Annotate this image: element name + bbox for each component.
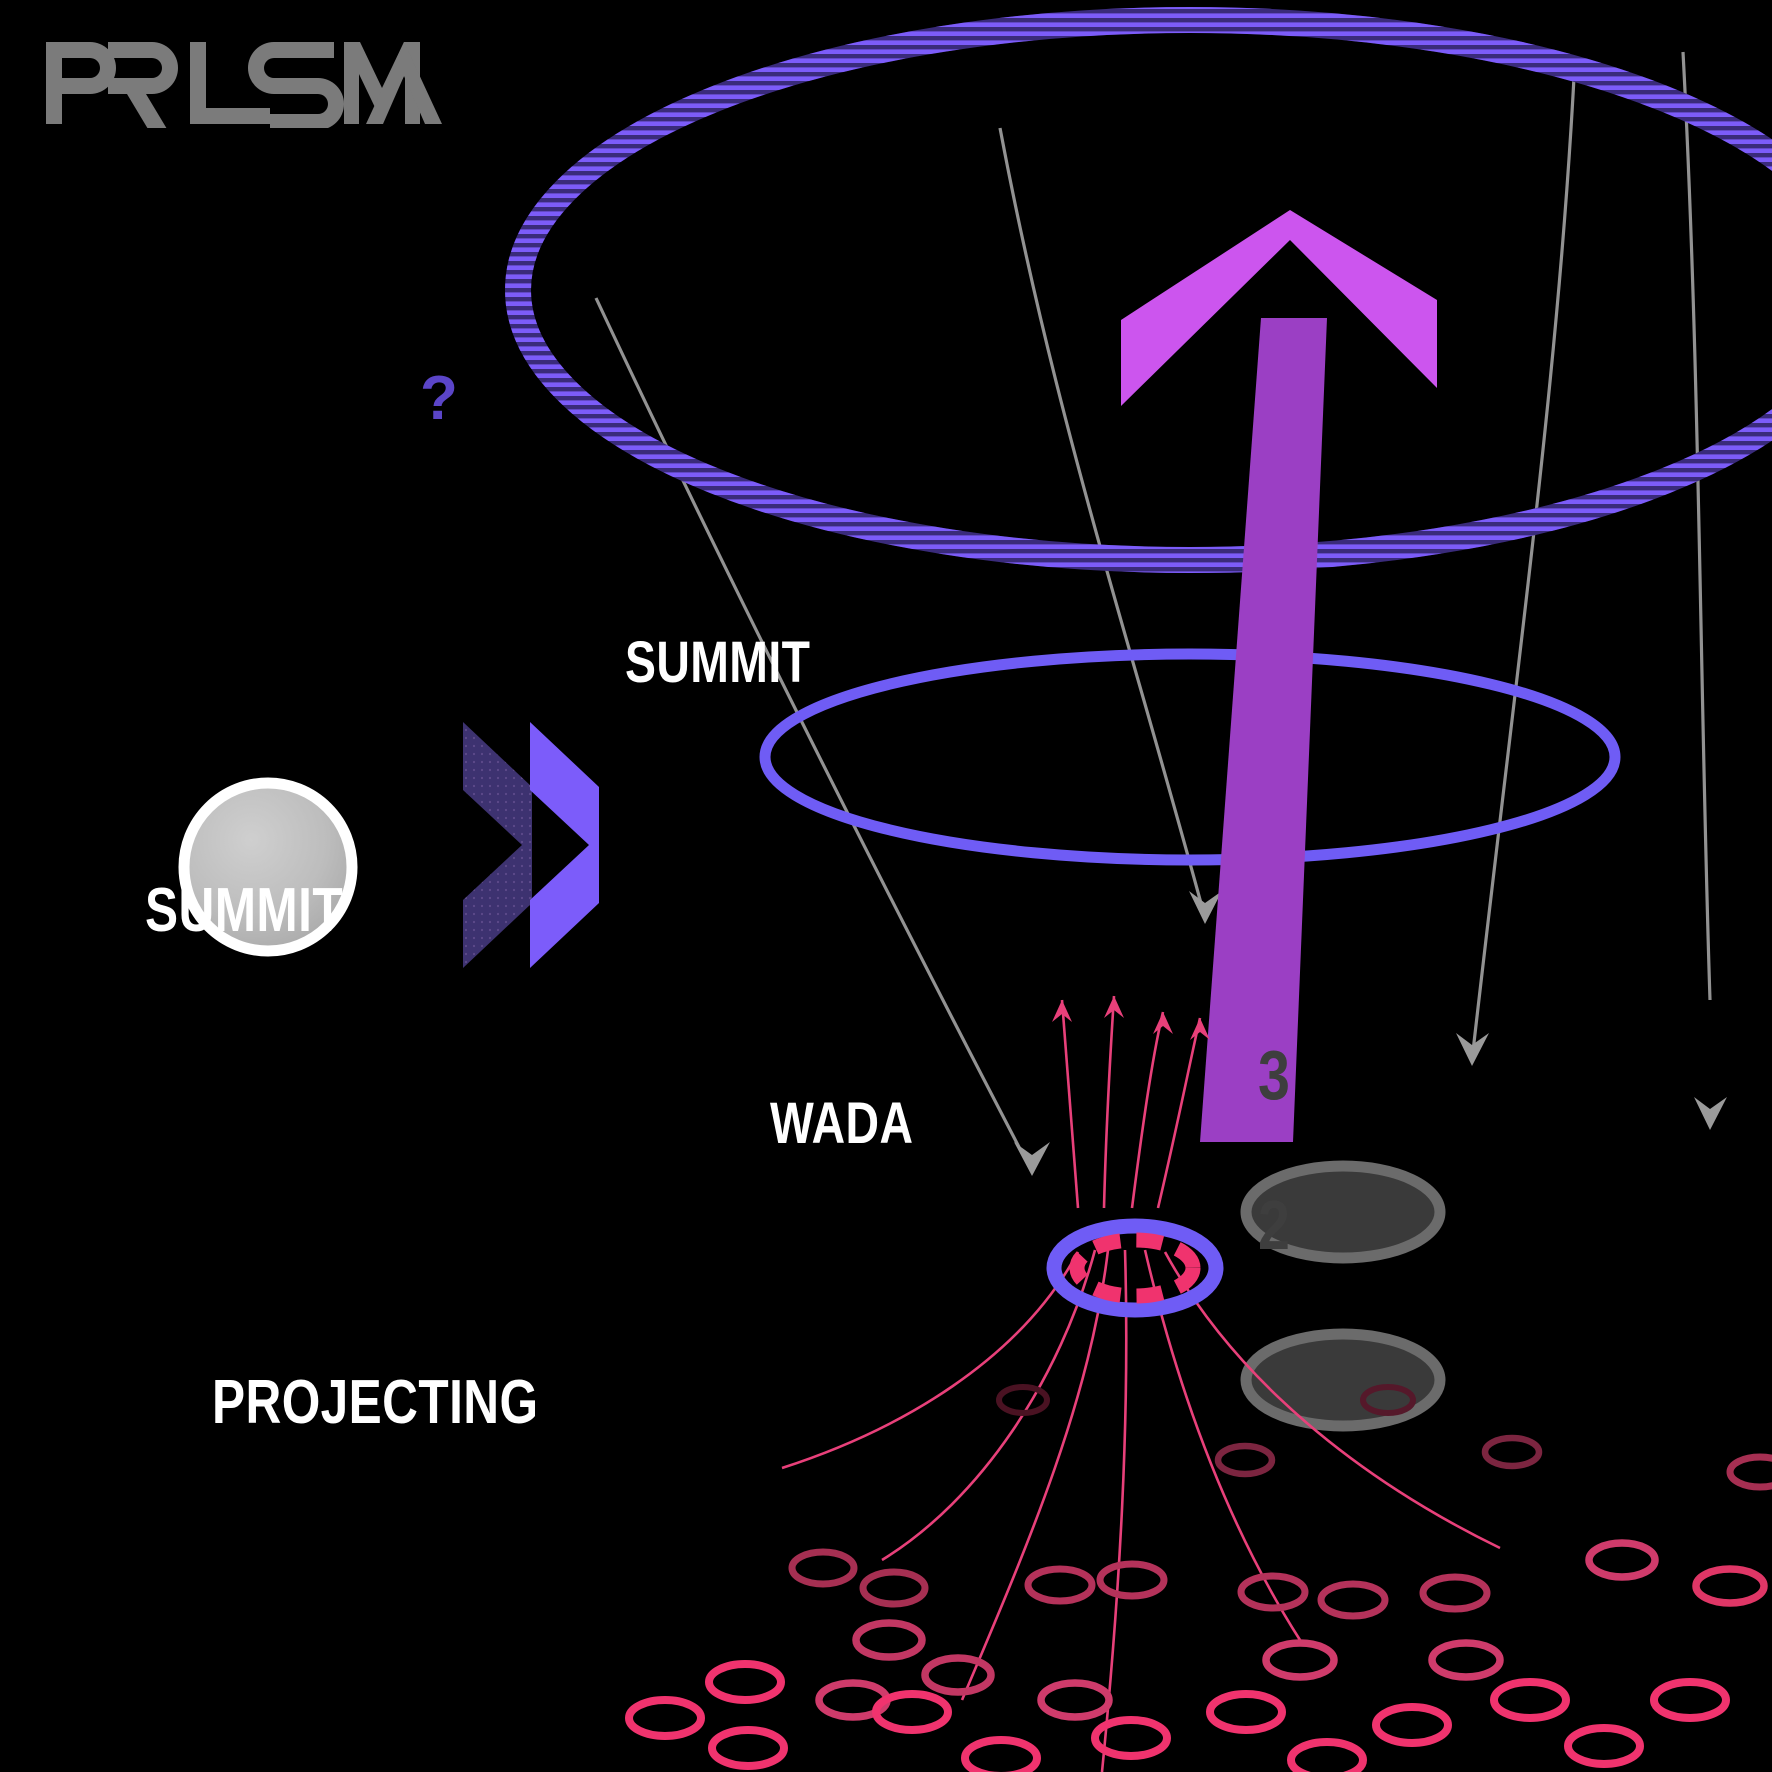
summit-ring: [765, 654, 1615, 860]
plume-streamlines-upper: [1062, 996, 1200, 1208]
process-label-projecting: PROJECTING: [212, 1372, 538, 1434]
depth-ellipse-2: [1246, 1334, 1440, 1426]
diagram-canvas: SUMMIT PROJECTING SUMMIT WADA ? 3 2: [0, 0, 1772, 1772]
double-chevron-right-icon: [463, 722, 599, 968]
plume-arrowheads: [1052, 996, 1210, 1040]
depth-marker-2-label: 2: [1258, 1190, 1290, 1260]
unknown-marker-label: ?: [420, 368, 458, 430]
summit-ring-label: SUMMIT: [625, 634, 810, 692]
top-torus-ring: [518, 20, 1772, 560]
funnel-streamlines: [596, 52, 1710, 1172]
wada-ring-label: WADA: [770, 1095, 913, 1153]
upward-flow-arrow: [1121, 210, 1437, 1142]
ring-field: [629, 1387, 1772, 1772]
source-label-summit: SUMMIT: [145, 880, 343, 942]
streamline-arrowheads: [1014, 891, 1727, 1176]
wada-ring: [1054, 1226, 1216, 1310]
depth-marker-3-label: 3: [1258, 1040, 1290, 1110]
